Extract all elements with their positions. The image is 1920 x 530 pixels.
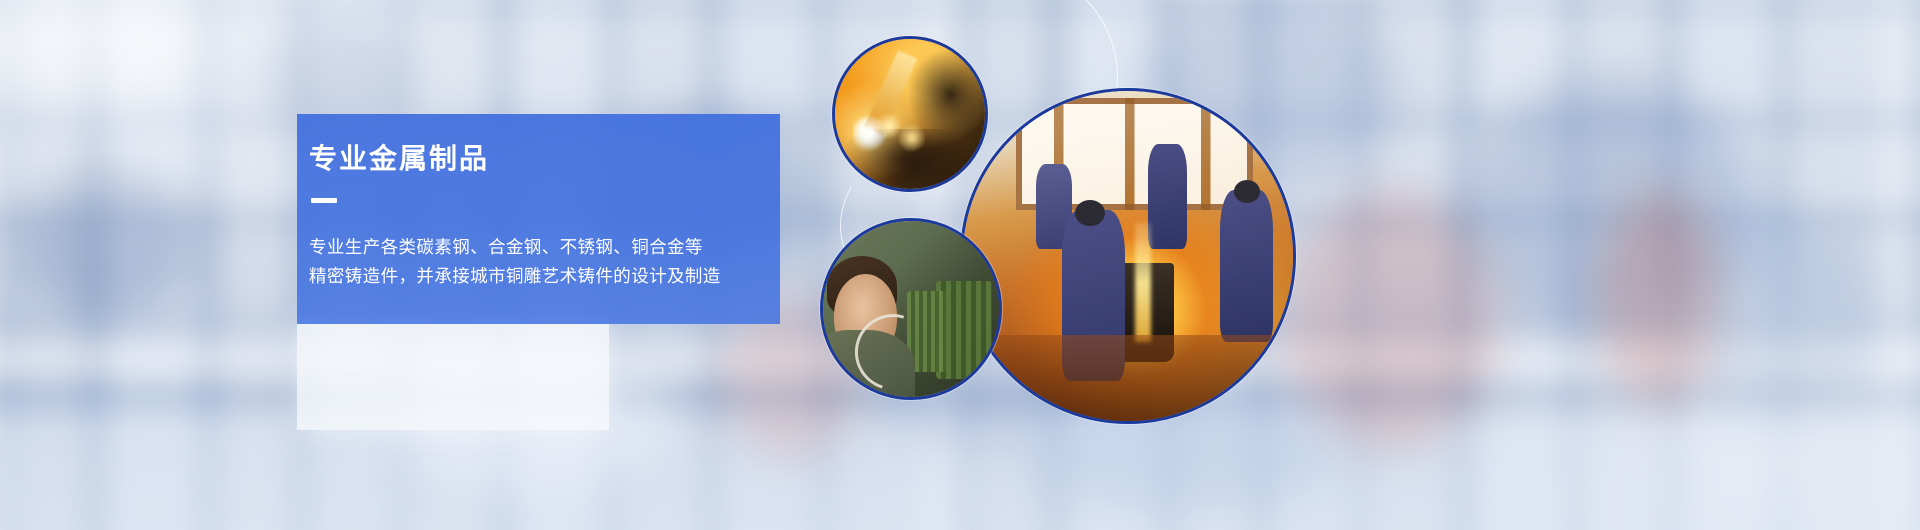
description-line-2: 精密铸造件，并承接城市铜雕艺术铸件的设计及制造 xyxy=(309,262,780,291)
background-light-glow-secondary xyxy=(1420,250,1920,530)
promo-text-panel: 专业金属制品 专业生产各类碳素钢、合金钢、不锈钢、铜合金等 精密铸造件，并承接城… xyxy=(297,114,780,324)
description-line-1: 专业生产各类碳素钢、合金钢、不锈钢、铜合金等 xyxy=(309,233,780,262)
photo-collage xyxy=(800,0,1320,530)
panel-description: 专业生产各类碳素钢、合金钢、不锈钢、铜合金等 精密铸造件，并承接城市铜雕艺术铸件… xyxy=(309,233,780,291)
title-divider xyxy=(311,198,337,203)
page-title: 专业金属制品 xyxy=(309,142,780,176)
photo-foundry-molten-pour xyxy=(960,88,1296,424)
hero-banner: 专业金属制品 专业生产各类碳素钢、合金钢、不锈钢、铜合金等 精密铸造件，并承接城… xyxy=(0,0,1920,530)
photo-technician-inspection xyxy=(820,218,1002,400)
white-backdrop-card xyxy=(297,318,609,430)
